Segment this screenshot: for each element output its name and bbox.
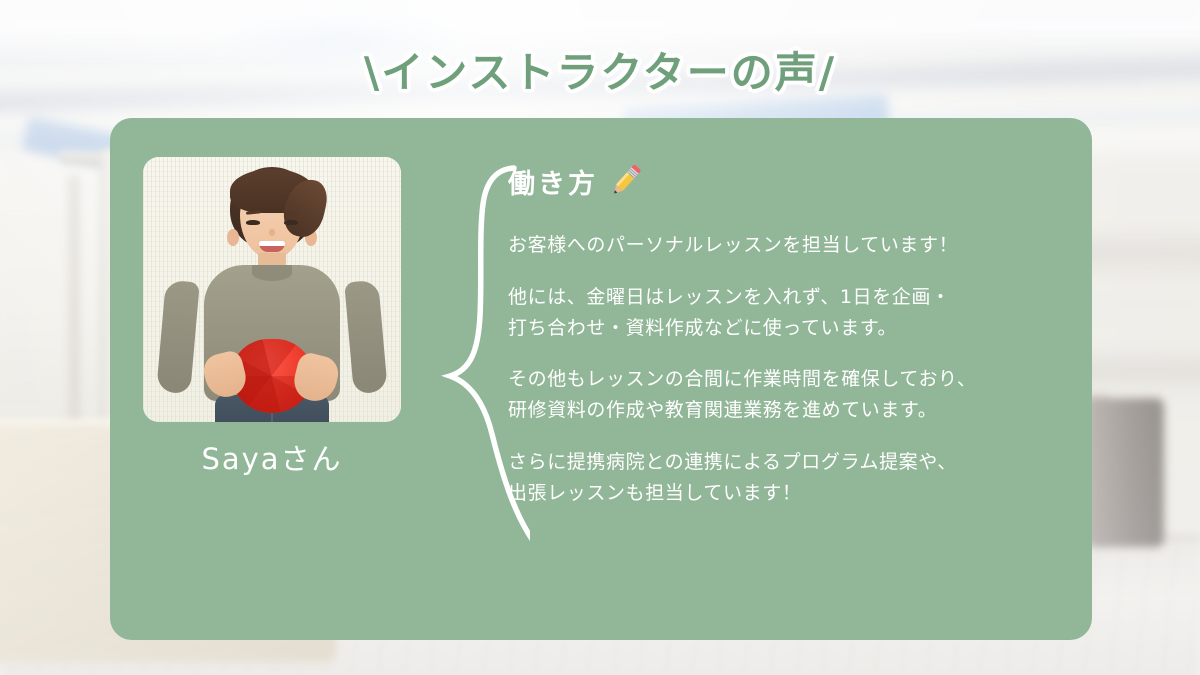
heading-row: 働き方	[508, 158, 1054, 204]
section-heading: 働き方	[508, 162, 598, 201]
testimonial-body: 働き方 お客様へのパーソナルレッスンを担当しています！ 他には、金曜日はレッスン…	[508, 158, 1054, 612]
portrait-eye-left	[246, 220, 260, 225]
paragraph: さらに提携病院との連携によるプログラム提案や、 出張レッスンも担当しています！	[508, 447, 1054, 509]
portrait-eye-right	[284, 220, 298, 225]
portrait-nose	[269, 229, 275, 236]
portrait-teeth	[259, 241, 285, 246]
testimonial-card: Sayaさん 働き方 お客様へのパーソナルレッスンを	[110, 118, 1092, 640]
portrait-smile	[259, 241, 285, 252]
portrait-ear-left	[227, 229, 239, 246]
instructor-photo	[143, 157, 401, 422]
pencil-icon	[602, 158, 648, 204]
page-title: \インストラクターの声/	[0, 39, 1200, 100]
instructor-name: Sayaさん	[143, 436, 401, 478]
paragraph: その他もレッスンの合間に作業時間を確保しており、 研修資料の作成や教育関連業務を…	[508, 364, 1054, 426]
portrait-collar	[252, 265, 292, 281]
paragraph: 他には、金曜日はレッスンを入れず、1日を企画・ 打ち合わせ・資料作成などに使って…	[508, 282, 1054, 344]
paragraph: お客様へのパーソナルレッスンを担当しています！	[508, 230, 1054, 261]
